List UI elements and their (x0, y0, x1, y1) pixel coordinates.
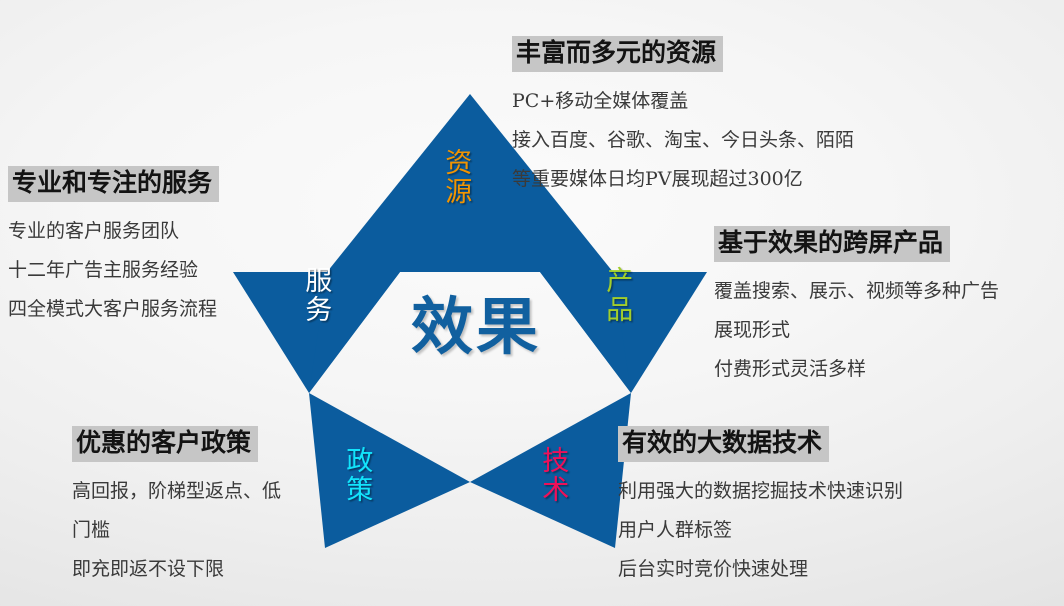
callout-product: 基于效果的跨屏产品 覆盖搜索、展示、视频等多种广告 展现形式 付费形式灵活多样 (714, 226, 999, 379)
star-label-resource: 资源 (440, 148, 470, 206)
callout-policy-heading: 优惠的客户政策 (72, 426, 258, 462)
star-label-product: 产品 (601, 266, 631, 324)
callout-bigdata-line-1: 利用强大的数据挖掘技术快速识别 (618, 482, 903, 501)
callout-product-line-3: 付费形式灵活多样 (714, 360, 999, 379)
callout-policy: 优惠的客户政策 高回报，阶梯型返点、低 门槛 即充即返不设下限 (72, 426, 281, 579)
callout-bigdata-heading: 有效的大数据技术 (618, 426, 829, 462)
star-center-word: 效果 (386, 296, 566, 358)
callout-product-line-2: 展现形式 (714, 321, 999, 340)
callout-resource: 丰富而多元的资源 PC+移动全媒体覆盖 接入百度、谷歌、淘宝、今日头条、陌陌 等… (512, 36, 854, 189)
star-label-policy: 政策 (341, 446, 371, 504)
callout-service-line-3: 四全模式大客户服务流程 (8, 300, 219, 319)
callout-policy-line-1: 高回报，阶梯型返点、低 (72, 482, 281, 501)
callout-policy-line-3: 即充即返不设下限 (72, 560, 281, 579)
callout-service: 专业和专注的服务 专业的客户服务团队 十二年广告主服务经验 四全模式大客户服务流… (8, 166, 219, 319)
star-point-policy (309, 393, 470, 548)
callout-product-heading: 基于效果的跨屏产品 (714, 226, 950, 262)
callout-bigdata: 有效的大数据技术 利用强大的数据挖掘技术快速识别 用户人群标签 后台实时竞价快速… (618, 426, 903, 579)
callout-service-line-2: 十二年广告主服务经验 (8, 261, 219, 280)
callout-resource-heading: 丰富而多元的资源 (512, 36, 723, 72)
star-label-tech: 技术 (537, 446, 567, 504)
callout-product-line-1: 覆盖搜索、展示、视频等多种广告 (714, 282, 999, 301)
callout-policy-line-2: 门槛 (72, 521, 281, 540)
callout-resource-line-3: 等重要媒体日均PV展现超过300亿 (512, 170, 854, 189)
callout-resource-line-2: 接入百度、谷歌、淘宝、今日头条、陌陌 (512, 131, 854, 150)
callout-bigdata-line-2: 用户人群标签 (618, 521, 903, 540)
callout-resource-line-1: PC+移动全媒体覆盖 (512, 92, 854, 111)
callout-bigdata-line-3: 后台实时竞价快速处理 (618, 560, 903, 579)
star-label-service: 服务 (300, 266, 330, 324)
callout-service-line-1: 专业的客户服务团队 (8, 222, 219, 241)
slide-canvas: 资源 服务 产品 政策 技术 效果 丰富而多元的资源 PC+移动全媒体覆盖 接入… (0, 0, 1064, 606)
callout-service-heading: 专业和专注的服务 (8, 166, 219, 202)
